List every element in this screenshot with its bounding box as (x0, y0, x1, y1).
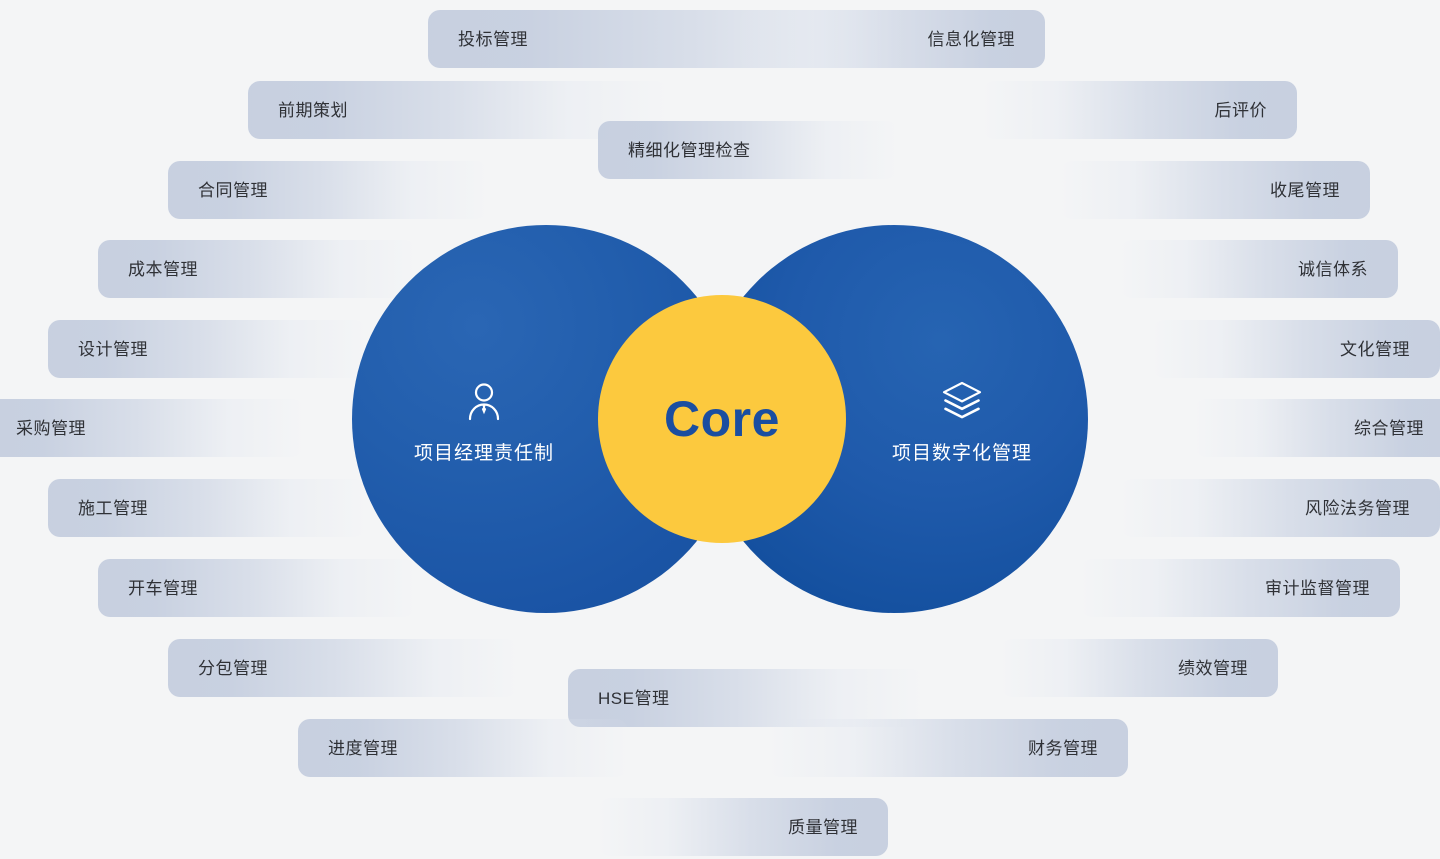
pill-label: 文化管理 (1340, 341, 1440, 358)
pill-label: 后评价 (1215, 102, 1298, 119)
pill-item[interactable]: 综合管理 (1194, 399, 1440, 457)
pill-label: 质量管理 (788, 819, 888, 836)
pill-label: 财务管理 (1028, 740, 1128, 757)
venn-left-label: 项目经理责任制 (414, 444, 554, 463)
venn-left-content: 项目经理责任制 (414, 379, 554, 463)
pill-item[interactable]: 审计监督管理 (1080, 559, 1400, 617)
pill-label: 收尾管理 (1270, 182, 1370, 199)
pill-item[interactable]: 文化管理 (1152, 320, 1440, 378)
pill-item[interactable]: 绩效管理 (1000, 639, 1278, 697)
pill-item[interactable]: 精细化管理检查 (598, 121, 898, 179)
pill-label: 信息化管理 (928, 31, 1046, 48)
venn-core-circle[interactable]: Core (598, 295, 846, 543)
pill-item[interactable]: 成本管理 (98, 240, 416, 298)
pill-label: 施工管理 (48, 500, 148, 517)
pill-item[interactable]: 分包管理 (168, 639, 518, 697)
pill-label: 投标管理 (428, 31, 528, 48)
pill-label: 成本管理 (98, 261, 198, 278)
pill-label: 开车管理 (98, 580, 198, 597)
pill-item[interactable]: 信息化管理 (740, 10, 1045, 68)
pill-item[interactable]: 施工管理 (48, 479, 366, 537)
pill-label: 精细化管理检查 (598, 142, 751, 159)
layers-stack-icon (939, 379, 985, 428)
person-tie-icon (462, 379, 506, 428)
pill-item[interactable]: 开车管理 (98, 559, 416, 617)
venn-right-label: 项目数字化管理 (892, 444, 1032, 463)
pill-item[interactable]: 进度管理 (298, 719, 628, 777)
pill-item[interactable]: 风险法务管理 (1120, 479, 1440, 537)
pill-item[interactable]: 诚信体系 (1120, 240, 1398, 298)
venn-right-content: 项目数字化管理 (892, 379, 1032, 463)
pill-label: 绩效管理 (1178, 660, 1278, 677)
diagram-canvas: 投标管理信息化管理前期策划后评价精细化管理检查合同管理收尾管理成本管理诚信体系设… (0, 0, 1440, 859)
pill-label: 进度管理 (298, 740, 398, 757)
pill-label: 前期策划 (248, 102, 348, 119)
pill-item[interactable]: 收尾管理 (1060, 161, 1370, 219)
pill-label: 诚信体系 (1298, 261, 1398, 278)
pill-item[interactable]: 设计管理 (48, 320, 366, 378)
pill-label: 合同管理 (168, 182, 268, 199)
pill-item[interactable]: 质量管理 (598, 798, 888, 856)
pill-label: 综合管理 (1354, 420, 1440, 437)
pill-label: 风险法务管理 (1305, 500, 1440, 517)
pill-label: 采购管理 (0, 420, 86, 437)
pill-label: 分包管理 (168, 660, 268, 677)
pill-item[interactable]: 财务管理 (768, 719, 1128, 777)
pill-label: 审计监督管理 (1265, 580, 1400, 597)
pill-item[interactable]: 合同管理 (168, 161, 488, 219)
pill-item[interactable]: 后评价 (982, 81, 1297, 139)
core-label: Core (664, 394, 780, 444)
pill-item[interactable]: 采购管理 (0, 399, 304, 457)
pill-label: HSE管理 (568, 690, 669, 707)
pill-label: 设计管理 (48, 341, 148, 358)
